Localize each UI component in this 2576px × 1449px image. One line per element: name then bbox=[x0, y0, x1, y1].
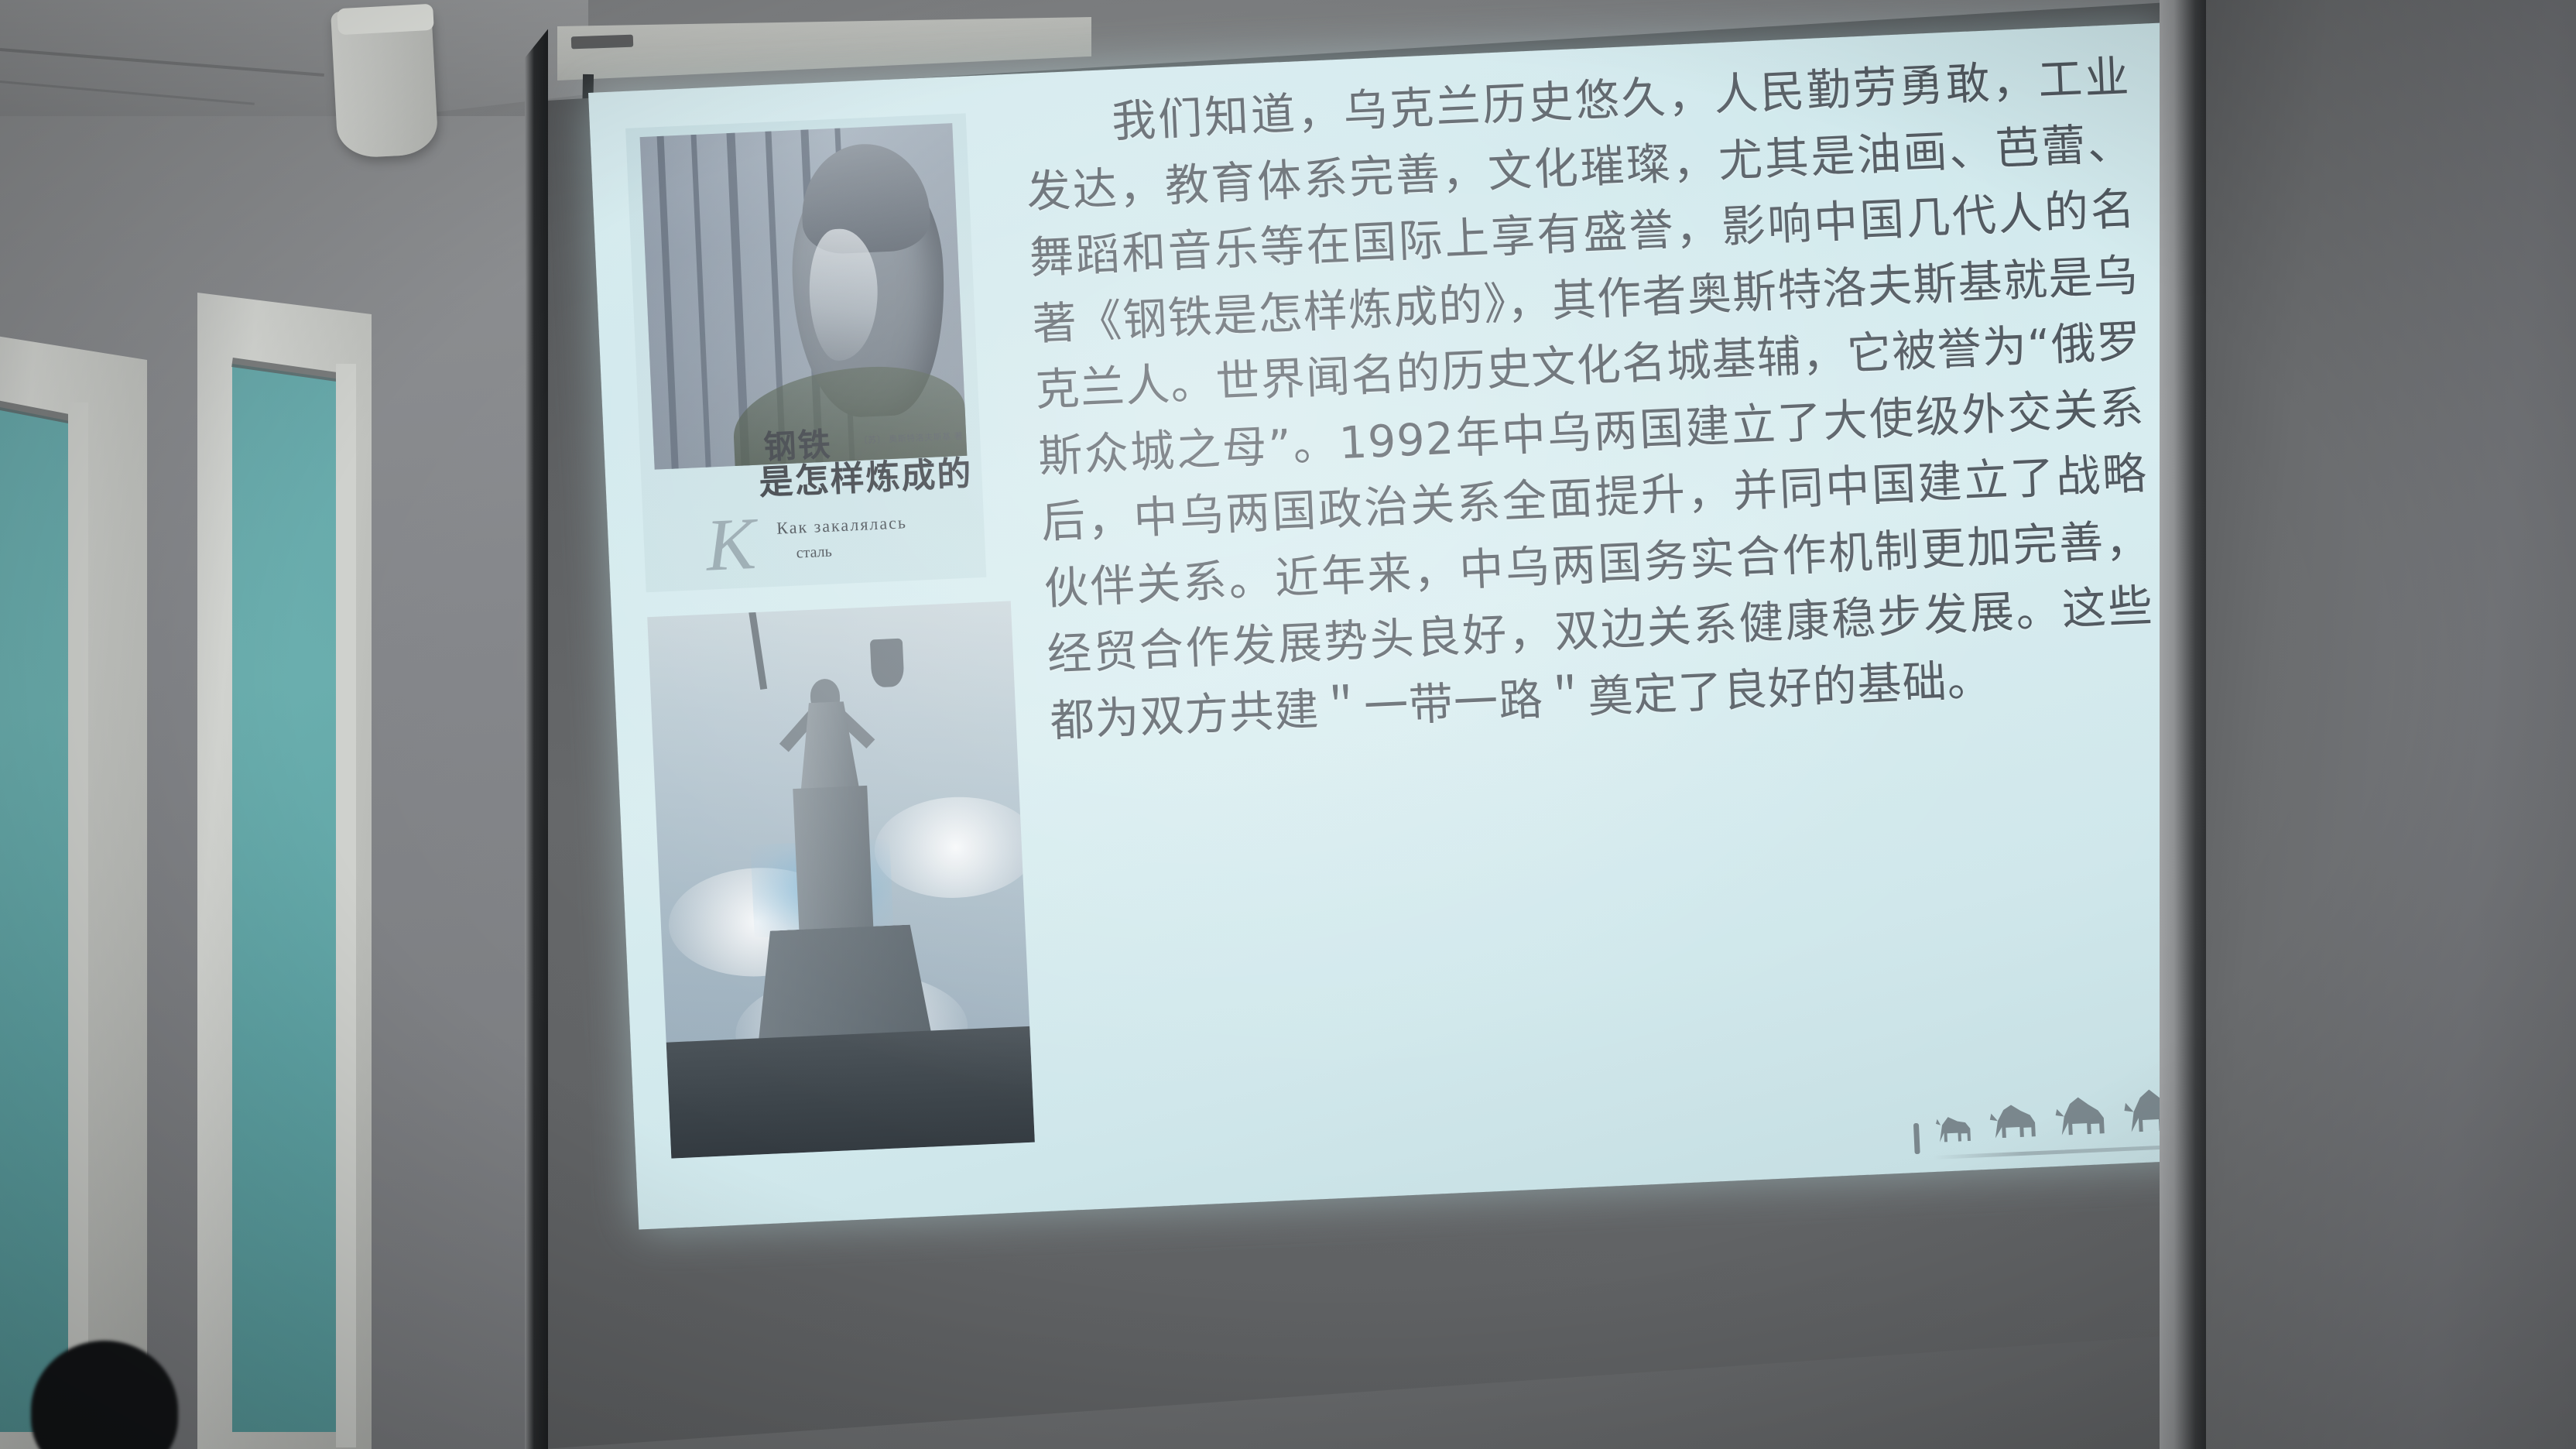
book-cover-helmet bbox=[799, 142, 931, 255]
camel-icon bbox=[2052, 1091, 2115, 1149]
book-cover-image: 〔苏〕 奥斯特洛夫斯基 著 钢铁 是怎样炼成的 K Как закалялась… bbox=[625, 113, 986, 592]
book-cover-cyrillic-title-2: сталь bbox=[796, 543, 832, 563]
ceiling-speaker-cap bbox=[337, 4, 434, 35]
roller-vent bbox=[571, 35, 634, 50]
projected-slide-photo: 〔苏〕 奥斯特洛夫斯基 著 钢铁 是怎样炼成的 K Как закалялась… bbox=[0, 0, 2576, 1449]
monument-plinth bbox=[752, 924, 932, 1048]
wall-right-panel bbox=[2206, 0, 2576, 1449]
camel-caravan-icon bbox=[1908, 1084, 2187, 1156]
book-cover-title: 钢铁 是怎样炼成的 bbox=[763, 421, 974, 502]
book-cover-title-line-2: 是怎样炼成的 bbox=[759, 456, 974, 502]
monument-shield bbox=[870, 639, 905, 688]
slide-surface: 〔苏〕 奥斯特洛夫斯基 著 钢铁 是怎样炼成的 K Как закалялась… bbox=[588, 22, 2216, 1229]
door-right-glass bbox=[232, 364, 341, 1432]
book-cover-monogram-icon: K bbox=[704, 514, 756, 576]
caravan-figure-icon bbox=[1910, 1120, 1923, 1156]
monument-sword bbox=[748, 605, 767, 690]
camel-icon bbox=[1930, 1106, 1981, 1155]
slide-body-text: 我们知道，乌克兰历史悠久，人民勤劳勇敢，工业发达，教育体系完善，文化璀璨，尤其是… bbox=[1023, 44, 2158, 755]
door-right-mullion bbox=[336, 364, 356, 1447]
slide-image-column: 〔苏〕 奥斯特洛夫斯基 著 钢铁 是怎样炼成的 K Как закалялась… bbox=[625, 112, 1035, 1159]
book-cover-photo bbox=[640, 123, 968, 470]
book-cover-cyrillic-title: Как закалялась bbox=[776, 512, 908, 538]
screen-right-edge bbox=[2160, 0, 2208, 1449]
door-left-glass bbox=[0, 402, 70, 1432]
camel-icon bbox=[1988, 1098, 2046, 1153]
projection-screen-left-edge bbox=[525, 0, 548, 1449]
monument-base bbox=[666, 1026, 1035, 1159]
door-left-mullion bbox=[68, 402, 88, 1447]
monument-column bbox=[793, 786, 873, 936]
monument-image bbox=[647, 601, 1035, 1158]
